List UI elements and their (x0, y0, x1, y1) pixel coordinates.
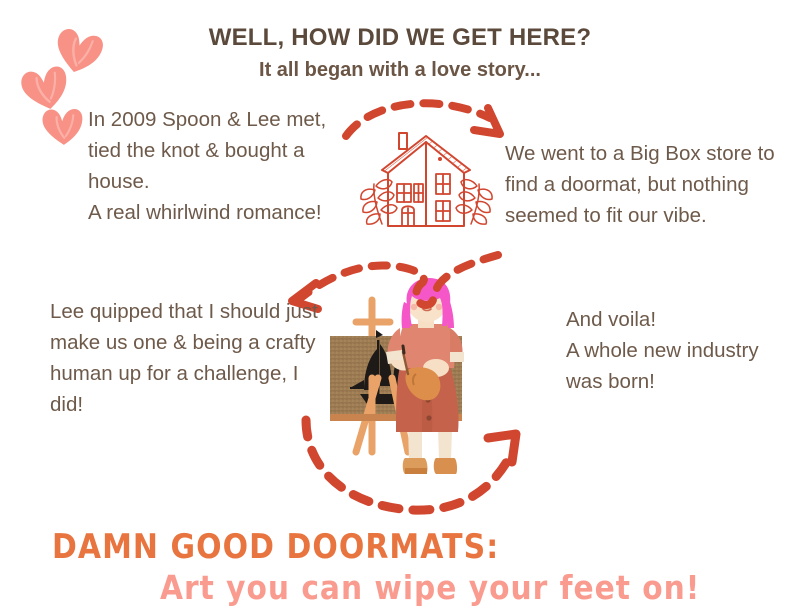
page-subtitle: It all began with a love story... (0, 59, 800, 82)
brand-name: DAMN GOOD DOORMATS: (52, 527, 499, 567)
story-step-1: In 2009 Spoon & Lee met, tied the knot &… (88, 104, 350, 228)
heart-icon (42, 107, 84, 146)
door (402, 206, 414, 226)
window (397, 184, 411, 202)
page-title: WELL, HOW DID WE GET HERE? (0, 24, 800, 52)
brand-tagline: Art you can wipe your feet on! (160, 568, 700, 607)
fern-left (361, 180, 397, 224)
arrow-bottom (300, 418, 540, 528)
story-step-3: Lee quipped that I should just make us o… (50, 296, 318, 420)
fern-right (456, 180, 492, 224)
window (414, 184, 423, 202)
infographic-canvas: WELL, HOW DID WE GET HERE? It all began … (0, 0, 800, 611)
story-step-4: And voila! A whole new industry was born… (566, 304, 796, 397)
window (436, 201, 450, 221)
story-step-2: We went to a Big Box store to find a doo… (505, 138, 797, 231)
window (436, 174, 450, 194)
